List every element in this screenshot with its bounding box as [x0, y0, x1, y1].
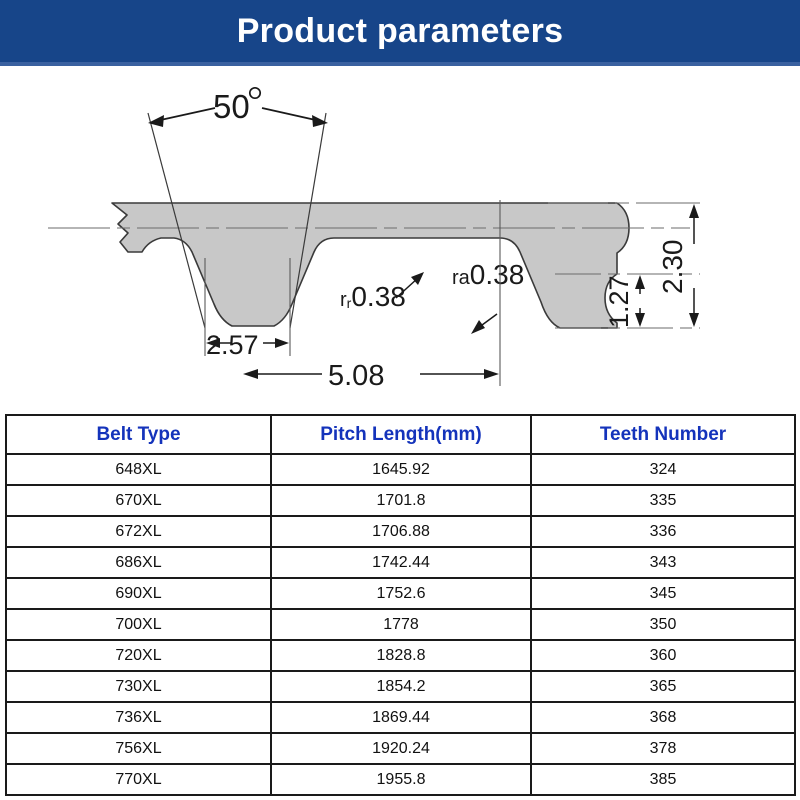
table-row: 648XL1645.92324	[6, 454, 795, 485]
tooth-height-label: 1.27	[604, 275, 634, 328]
cell-teeth-number: 335	[531, 485, 795, 516]
root-radius-label: rr0.38	[340, 281, 406, 312]
cell-belt-type: 690XL	[6, 578, 271, 609]
table-row: 672XL1706.88336	[6, 516, 795, 547]
cell-belt-type: 730XL	[6, 671, 271, 702]
cell-belt-type: 700XL	[6, 609, 271, 640]
pitch-dimension-label: 5.08	[328, 360, 384, 392]
width-dimension-label: 2.57	[206, 330, 259, 360]
width-dimension-2-57: 2.57	[206, 330, 289, 360]
table-row: 700XL1778350	[6, 609, 795, 640]
cell-pitch-length: 1869.44	[271, 702, 531, 733]
cell-pitch-length: 1742.44	[271, 547, 531, 578]
table-row: 720XL1828.8360	[6, 640, 795, 671]
table-row: 770XL1955.8385	[6, 764, 795, 795]
belt-profile-svg: 50 rr0.38 ra0.38 2.57	[0, 66, 800, 406]
header-banner: Product parameters	[0, 0, 800, 62]
cell-belt-type: 720XL	[6, 640, 271, 671]
cell-teeth-number: 378	[531, 733, 795, 764]
cell-pitch-length: 1645.92	[271, 454, 531, 485]
pitch-dimension-5-08: 5.08	[243, 360, 499, 392]
belt-thickness-dimension-2-30: 2.30	[640, 203, 700, 327]
tooth-height-dimension-1-27: 1.27	[604, 275, 645, 328]
specification-table-container: Belt Type Pitch Length(mm) Teeth Number …	[5, 414, 794, 796]
cell-teeth-number: 360	[531, 640, 795, 671]
angle-leader-left	[148, 108, 215, 127]
page-title: Product parameters	[237, 14, 564, 48]
table-row: 730XL1854.2365	[6, 671, 795, 702]
angle-leader-right	[262, 108, 328, 127]
cell-teeth-number: 368	[531, 702, 795, 733]
cell-teeth-number: 345	[531, 578, 795, 609]
angle-value-label: 50	[213, 88, 250, 125]
table-row: 670XL1701.8335	[6, 485, 795, 516]
column-header-belt-type: Belt Type	[6, 415, 271, 454]
cell-pitch-length: 1955.8	[271, 764, 531, 795]
cell-belt-type: 736XL	[6, 702, 271, 733]
table-row: 756XL1920.24378	[6, 733, 795, 764]
degree-symbol-icon	[250, 88, 260, 98]
cell-pitch-length: 1920.24	[271, 733, 531, 764]
belt-thickness-label: 2.30	[657, 240, 688, 295]
cell-belt-type: 672XL	[6, 516, 271, 547]
cell-pitch-length: 1854.2	[271, 671, 531, 702]
table-row: 690XL1752.6345	[6, 578, 795, 609]
table-header-row: Belt Type Pitch Length(mm) Teeth Number	[6, 415, 795, 454]
cell-pitch-length: 1701.8	[271, 485, 531, 516]
tip-radius-label: ra0.38	[452, 259, 524, 290]
cell-pitch-length: 1706.88	[271, 516, 531, 547]
column-header-teeth-number: Teeth Number	[531, 415, 795, 454]
cell-belt-type: 686XL	[6, 547, 271, 578]
table-body: 648XL1645.92324670XL1701.8335672XL1706.8…	[6, 454, 795, 795]
cell-belt-type: 648XL	[6, 454, 271, 485]
cell-belt-type: 756XL	[6, 733, 271, 764]
cell-belt-type: 670XL	[6, 485, 271, 516]
table-row: 736XL1869.44368	[6, 702, 795, 733]
cell-teeth-number: 336	[531, 516, 795, 547]
cell-pitch-length: 1828.8	[271, 640, 531, 671]
cell-pitch-length: 1778	[271, 609, 531, 640]
cell-teeth-number: 365	[531, 671, 795, 702]
belt-profile-diagram: 50 rr0.38 ra0.38 2.57	[0, 66, 800, 406]
cell-teeth-number: 385	[531, 764, 795, 795]
column-header-pitch-length: Pitch Length(mm)	[271, 415, 531, 454]
cell-teeth-number: 350	[531, 609, 795, 640]
cell-teeth-number: 343	[531, 547, 795, 578]
cell-belt-type: 770XL	[6, 764, 271, 795]
tip-radius-leader	[471, 314, 497, 334]
cell-teeth-number: 324	[531, 454, 795, 485]
cell-pitch-length: 1752.6	[271, 578, 531, 609]
specification-table: Belt Type Pitch Length(mm) Teeth Number …	[5, 414, 796, 796]
table-row: 686XL1742.44343	[6, 547, 795, 578]
